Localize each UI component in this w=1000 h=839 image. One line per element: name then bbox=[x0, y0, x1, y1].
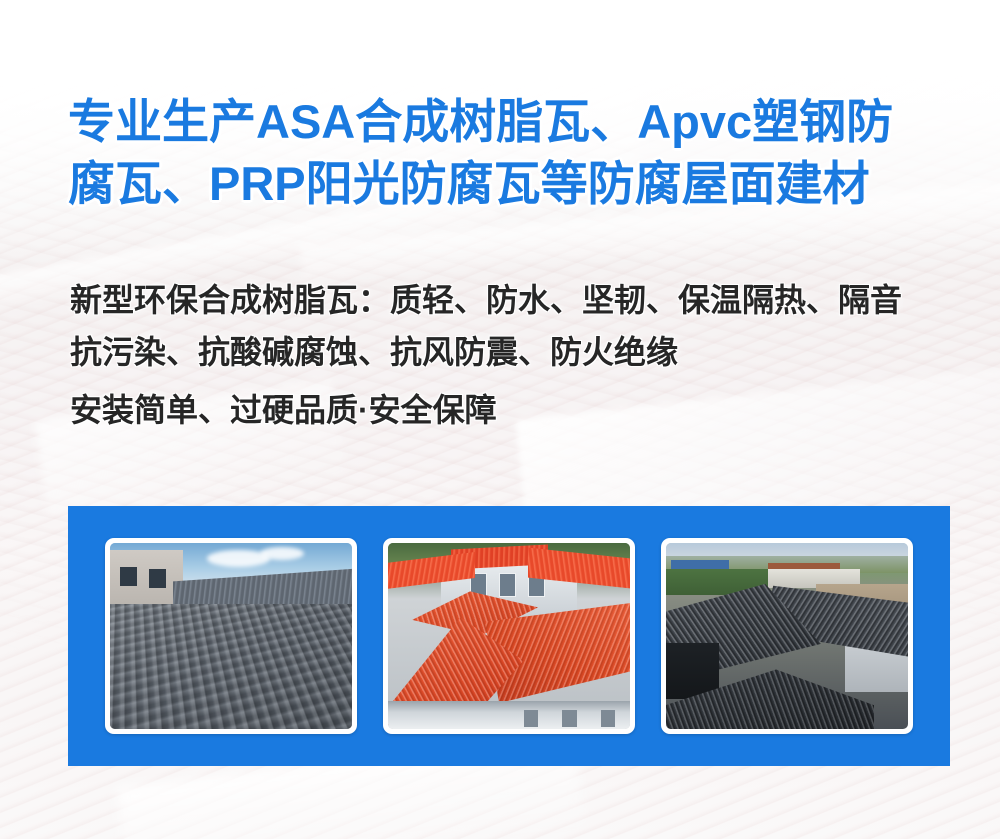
photo3-blue-roof-building bbox=[671, 560, 729, 569]
gray-slate-tile-roof-photo bbox=[110, 543, 352, 729]
feature-line-3: 安装简单、过硬品质·安全保障 bbox=[70, 384, 970, 436]
product-promo-banner: 专业生产ASA合成树脂瓦、Apvc塑钢防 腐瓦、PRP阳光防腐瓦等防腐屋面建材 … bbox=[0, 0, 1000, 839]
feature-line-1: 新型环保合成树脂瓦：质轻、防水、坚韧、保温隔热、隔音 bbox=[70, 274, 970, 326]
photo2-lower-window bbox=[562, 710, 577, 727]
headline-line-1: 专业生产ASA合成树脂瓦、Apvc塑钢防 bbox=[68, 92, 948, 152]
feature-list: 新型环保合成树脂瓦：质轻、防水、坚韧、保温隔热、隔音 抗污染、抗酸碱腐蚀、抗风防… bbox=[70, 274, 970, 436]
photo2-lower-window bbox=[601, 710, 616, 727]
headline: 专业生产ASA合成树脂瓦、Apvc塑钢防 腐瓦、PRP阳光防腐瓦等防腐屋面建材 bbox=[68, 92, 948, 214]
photo-frame-1[interactable] bbox=[105, 538, 357, 734]
photo1-cloud bbox=[260, 547, 304, 560]
dark-gray-tile-roof-photo bbox=[666, 543, 908, 729]
photo2-window bbox=[499, 573, 516, 597]
photo1-main-tiled-roof bbox=[110, 604, 352, 729]
photo1-window bbox=[120, 567, 137, 586]
headline-line-2: 腐瓦、PRP阳光防腐瓦等防腐屋面建材 bbox=[68, 154, 948, 214]
photo-frame-2[interactable] bbox=[383, 538, 635, 734]
red-tile-roof-photo bbox=[388, 543, 630, 729]
photo2-lower-facade bbox=[388, 701, 630, 729]
photo2-lower-window bbox=[524, 710, 539, 727]
product-photo-gallery bbox=[68, 506, 950, 766]
banner-content: 专业生产ASA合成树脂瓦、Apvc塑钢防 腐瓦、PRP阳光防腐瓦等防腐屋面建材 … bbox=[0, 0, 1000, 839]
feature-line-2: 抗污染、抗酸碱腐蚀、抗风防震、防火绝缘 bbox=[70, 326, 970, 378]
photo-frame-3[interactable] bbox=[661, 538, 913, 734]
photo1-window bbox=[149, 569, 166, 588]
